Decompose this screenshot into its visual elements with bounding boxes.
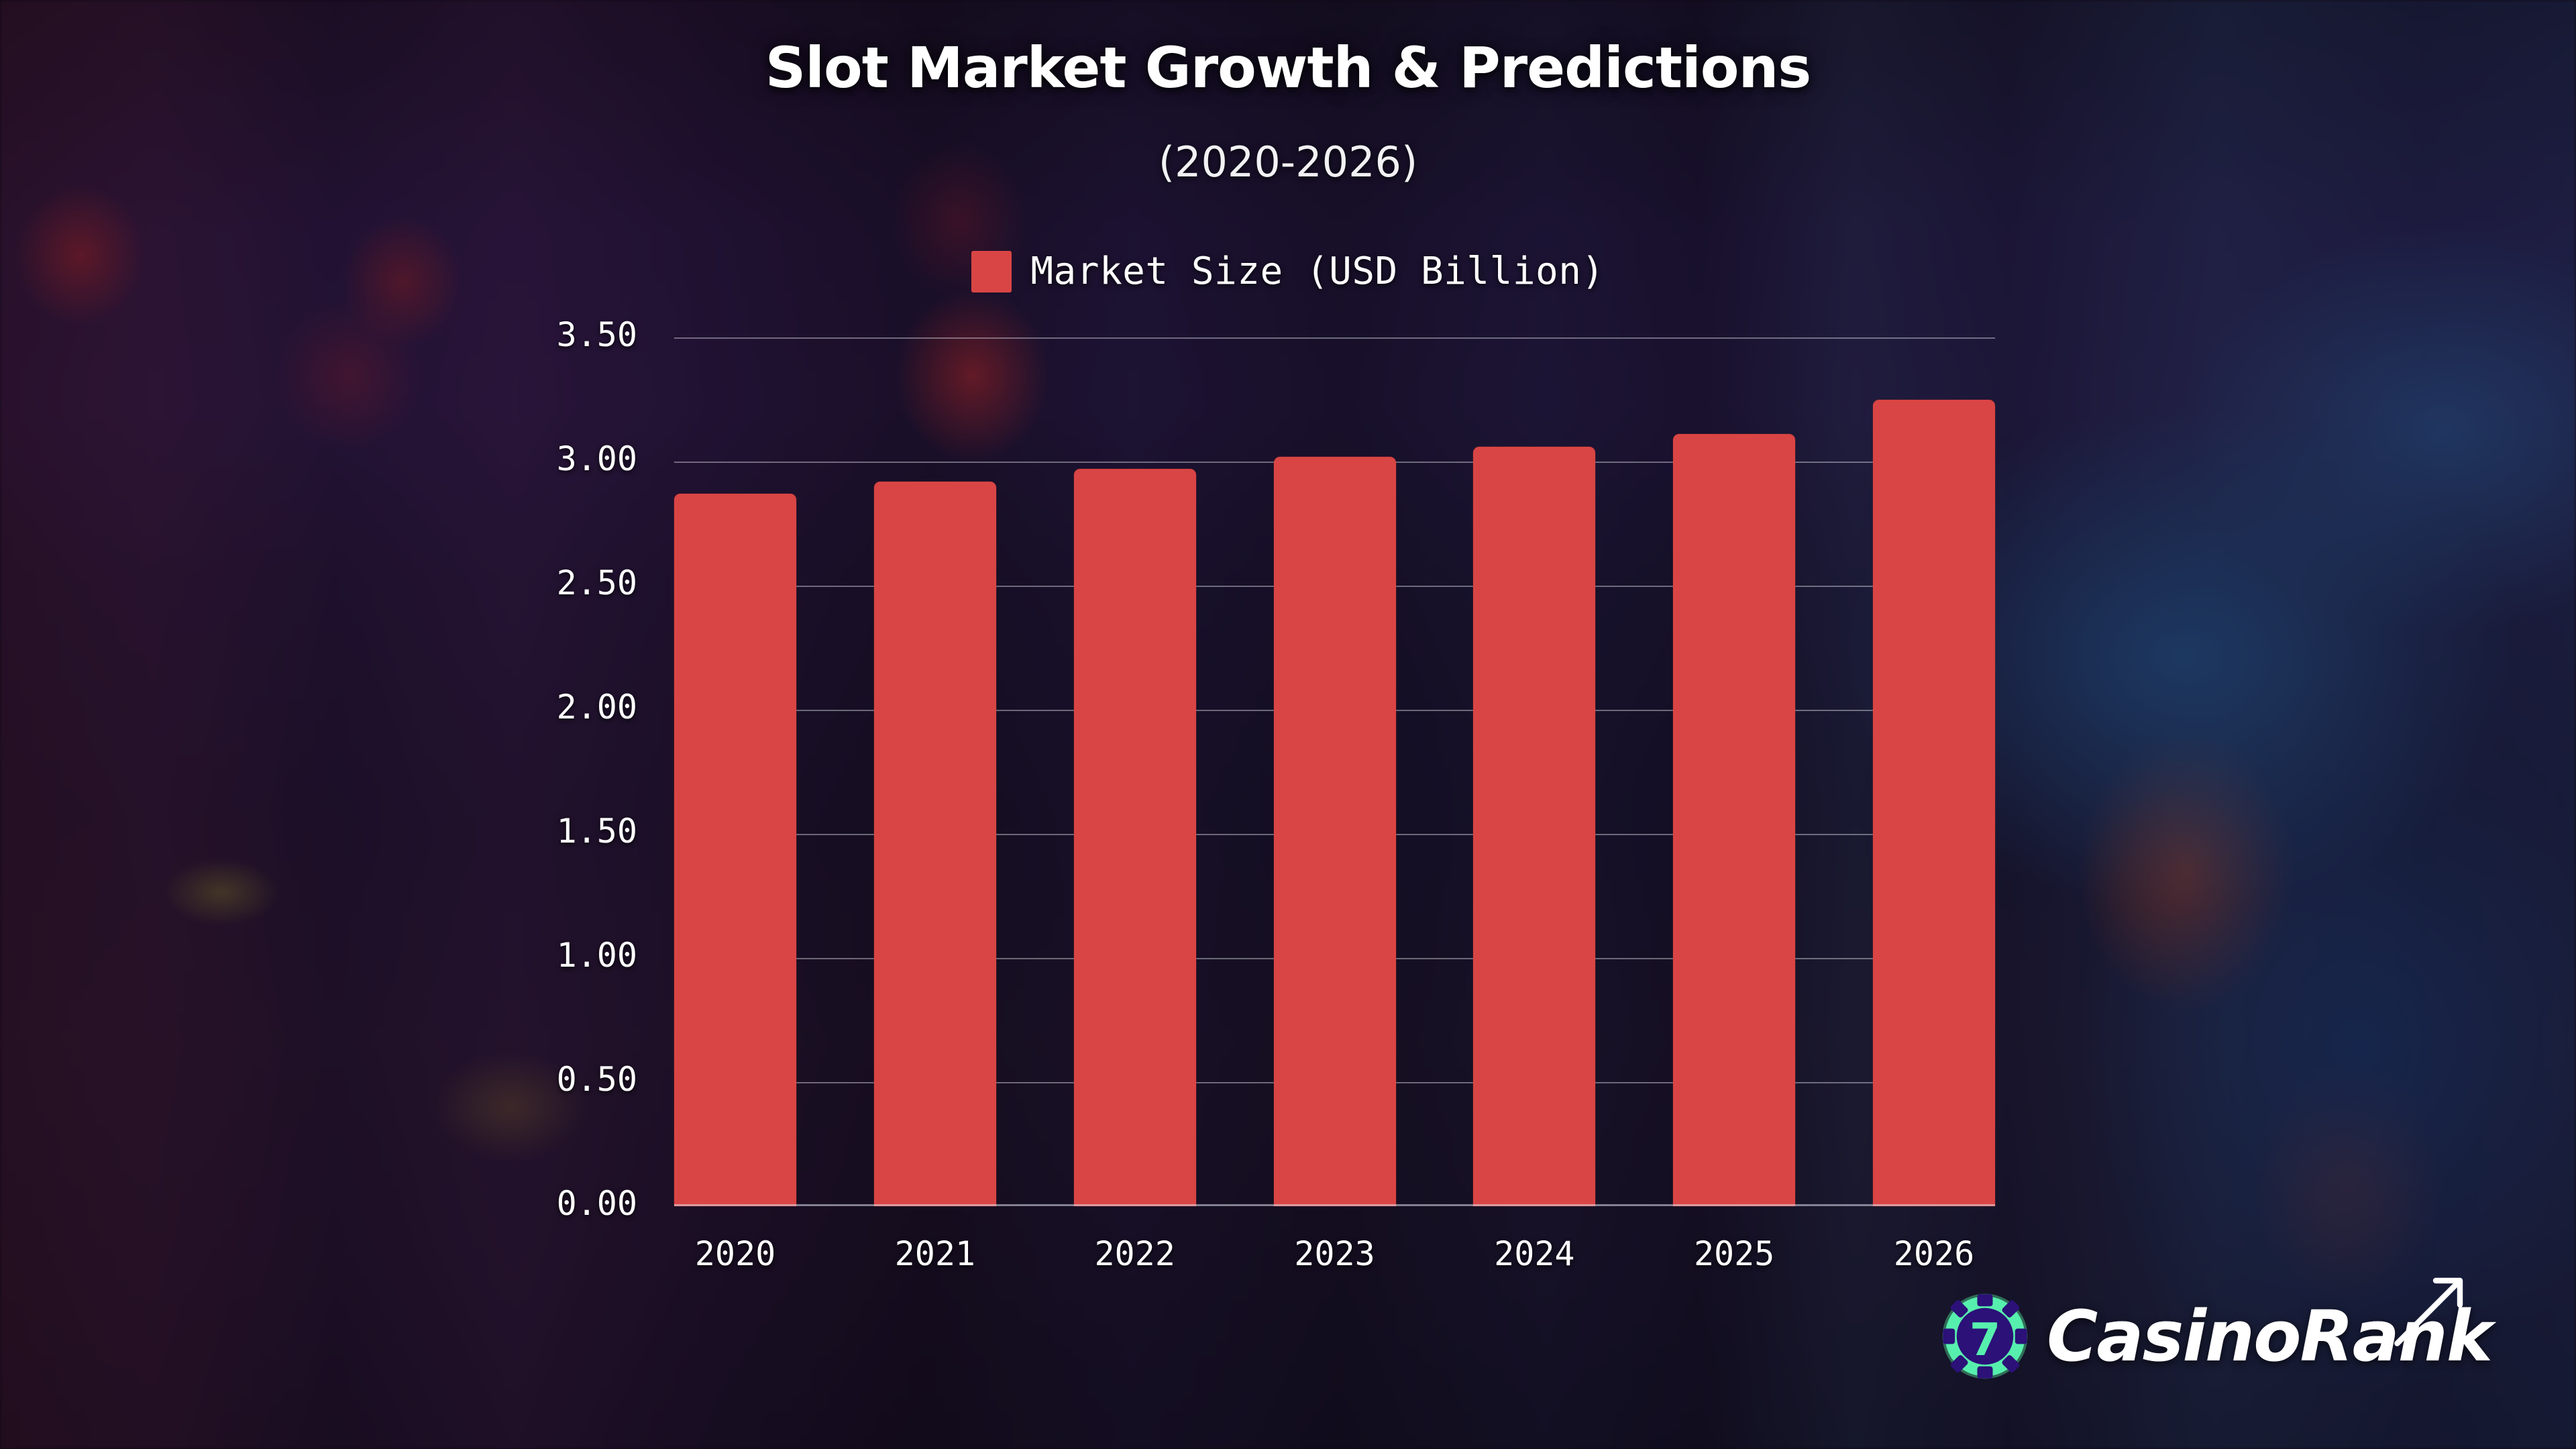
plot-area (674, 337, 1995, 1206)
brand-wordmark: CasinoRank (2047, 1295, 2491, 1377)
x-axis-line (674, 1204, 1995, 1206)
y-axis-tick-label: 2.00 (436, 688, 637, 727)
bar (674, 494, 796, 1206)
x-axis-tick-label: 2022 (1048, 1234, 1222, 1273)
y-axis-tick-label: 3.00 (436, 439, 637, 478)
y-axis-tick-label: 1.00 (436, 936, 637, 975)
y-axis-tick-label: 3.50 (436, 315, 637, 354)
bar (1074, 469, 1196, 1206)
chart-legend: Market Size (USD Billion) (0, 250, 2576, 293)
bar (1473, 447, 1595, 1206)
y-axis-tick-label: 0.50 (436, 1060, 637, 1099)
gridline (674, 337, 1995, 339)
bar (1673, 434, 1795, 1206)
x-axis-tick-label: 2024 (1447, 1234, 1621, 1273)
bar (1274, 457, 1396, 1206)
page-subtitle: (2020-2026) (0, 138, 2576, 186)
y-axis-tick-label: 1.50 (436, 812, 637, 851)
square-swatch-icon (971, 251, 1012, 292)
casino-chip-icon: 7 (1942, 1293, 2028, 1379)
y-axis-tick-label: 2.50 (436, 563, 637, 602)
x-axis-tick-label: 2020 (648, 1234, 822, 1273)
arrow-up-right-icon (2387, 1273, 2468, 1353)
x-axis-tick-label: 2023 (1248, 1234, 1422, 1273)
legend-item-label: Market Size (USD Billion) (1030, 250, 1604, 293)
x-axis-tick-label: 2021 (848, 1234, 1022, 1273)
y-axis-tick-label: 0.00 (436, 1184, 637, 1223)
casinorank-watermark: 7 CasinoRank (1942, 1293, 2491, 1379)
x-axis-tick-label: 2026 (1847, 1234, 2021, 1273)
page-title: Slot Market Growth & Predictions (0, 35, 2576, 101)
x-axis-tick-label: 2025 (1647, 1234, 1821, 1273)
bar (874, 482, 996, 1206)
bar (1873, 400, 1995, 1207)
chip-number: 7 (1970, 1313, 2000, 1366)
